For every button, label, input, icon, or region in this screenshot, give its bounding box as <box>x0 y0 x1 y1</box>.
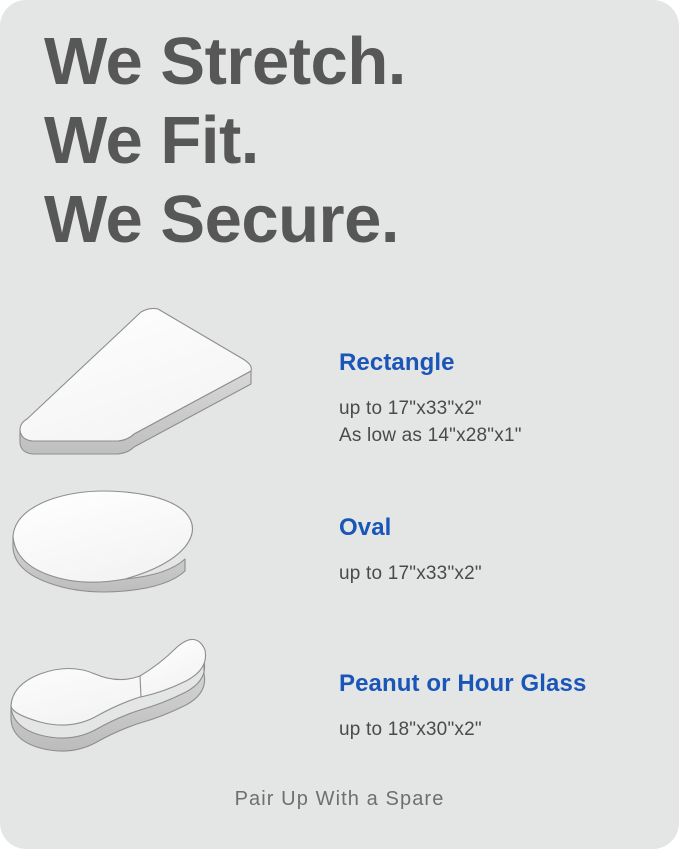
oval-text-block: Oval up to 17"x33"x2" <box>339 513 669 587</box>
rectangle-mattress-illustration <box>0 300 320 460</box>
product-row-oval: Oval up to 17"x33"x2" <box>0 468 679 628</box>
headline-line-2: We Fit. <box>44 101 604 180</box>
page-title: We Stretch. We Fit. We Secure. <box>44 22 604 259</box>
footer-tagline: Pair Up With a Spare <box>0 788 679 811</box>
rectangle-text-block: Rectangle up to 17"x33"x2" As low as 14"… <box>339 348 669 449</box>
headline-line-3: We Secure. <box>44 180 604 259</box>
oval-mattress-illustration <box>0 468 320 628</box>
product-title-oval: Oval <box>339 513 669 543</box>
infographic-card: We Stretch. We Fit. We Secure. <box>0 0 679 849</box>
headline-line-1: We Stretch. <box>44 22 604 101</box>
product-title-rectangle: Rectangle <box>339 348 669 378</box>
product-row-peanut: Peanut or Hour Glass up to 18"x30"x2" <box>0 624 679 784</box>
rectangle-spec-1: up to 17"x33"x2" <box>339 395 669 422</box>
oval-spec-list: up to 17"x33"x2" <box>339 560 669 587</box>
peanut-spec-1: up to 18"x30"x2" <box>339 716 669 743</box>
peanut-mattress-illustration <box>0 624 320 784</box>
peanut-text-block: Peanut or Hour Glass up to 18"x30"x2" <box>339 669 669 743</box>
rectangle-spec-2: As low as 14"x28"x1" <box>339 422 669 449</box>
product-row-rectangle: Rectangle up to 17"x33"x2" As low as 14"… <box>0 300 679 460</box>
oval-spec-1: up to 17"x33"x2" <box>339 560 669 587</box>
peanut-spec-list: up to 18"x30"x2" <box>339 716 669 743</box>
rectangle-spec-list: up to 17"x33"x2" As low as 14"x28"x1" <box>339 395 669 449</box>
product-title-peanut: Peanut or Hour Glass <box>339 669 669 699</box>
